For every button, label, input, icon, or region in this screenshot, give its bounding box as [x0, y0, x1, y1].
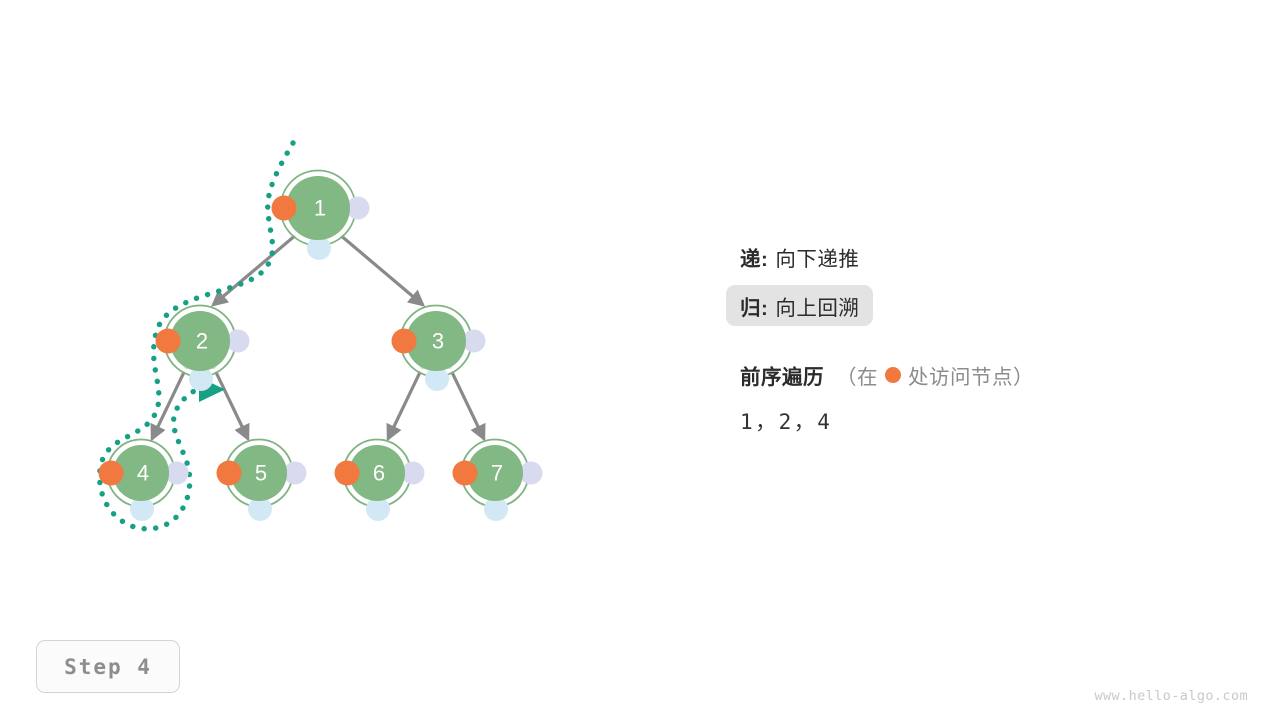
tree-node-2[interactable]: 2 [156, 306, 250, 392]
legend-row-recurse: 递: 向下递推 [726, 236, 873, 277]
node-visit-dot [217, 461, 242, 486]
traversal-title-row: 前序遍历 （在 处访问节点） [740, 360, 1220, 390]
traversal-values: 1，2，4 [740, 406, 1220, 436]
tree-nodes: 1234567 [99, 171, 543, 522]
edge-1-2 [213, 234, 297, 305]
step-badge: Step 4 [36, 640, 180, 693]
legend-key-recurse: 递: [740, 242, 768, 272]
visit-dot-icon [885, 367, 901, 383]
watermark: www.hello-algo.com [1095, 688, 1249, 704]
node-visit-dot [156, 329, 181, 354]
node-label: 2 [196, 329, 208, 354]
node-label: 4 [137, 461, 149, 486]
node-label: 6 [373, 461, 385, 486]
node-visit-dot [99, 461, 124, 486]
edge-3-6 [388, 368, 422, 439]
node-label: 3 [432, 329, 444, 354]
node-label: 1 [314, 196, 326, 221]
legend-key-backtrack: 归: [740, 291, 768, 321]
edge-1-3 [339, 234, 423, 305]
traversal-title: 前序遍历 [740, 360, 824, 390]
traversal-note-suffix: 处访问节点） [908, 360, 1034, 390]
tree-node-6[interactable]: 6 [335, 440, 425, 522]
edge-3-7 [450, 368, 484, 439]
traversal-note-prefix: （在 [836, 360, 878, 390]
node-label: 5 [255, 461, 267, 486]
tree-node-3[interactable]: 3 [392, 306, 486, 392]
traversal-note: （在 处访问节点） [836, 360, 1034, 390]
traversal-block: 前序遍历 （在 处访问节点） 1，2，4 [740, 360, 1220, 436]
legend-value-recurse: 向下递推 [775, 242, 859, 272]
node-visit-dot [392, 329, 417, 354]
node-visit-dot [335, 461, 360, 486]
recursion-legend: 递: 向下递推 归: 向上回溯 [726, 236, 1196, 334]
edge-2-5 [214, 368, 248, 439]
node-visit-dot [453, 461, 478, 486]
tree-node-4[interactable]: 4 [99, 440, 189, 522]
legend-value-backtrack: 向上回溯 [775, 291, 859, 321]
tree-node-5[interactable]: 5 [217, 440, 307, 522]
legend-row-backtrack: 归: 向上回溯 [726, 285, 873, 326]
tree-node-7[interactable]: 7 [453, 440, 543, 522]
node-visit-dot [272, 196, 297, 221]
node-label: 7 [491, 461, 503, 486]
